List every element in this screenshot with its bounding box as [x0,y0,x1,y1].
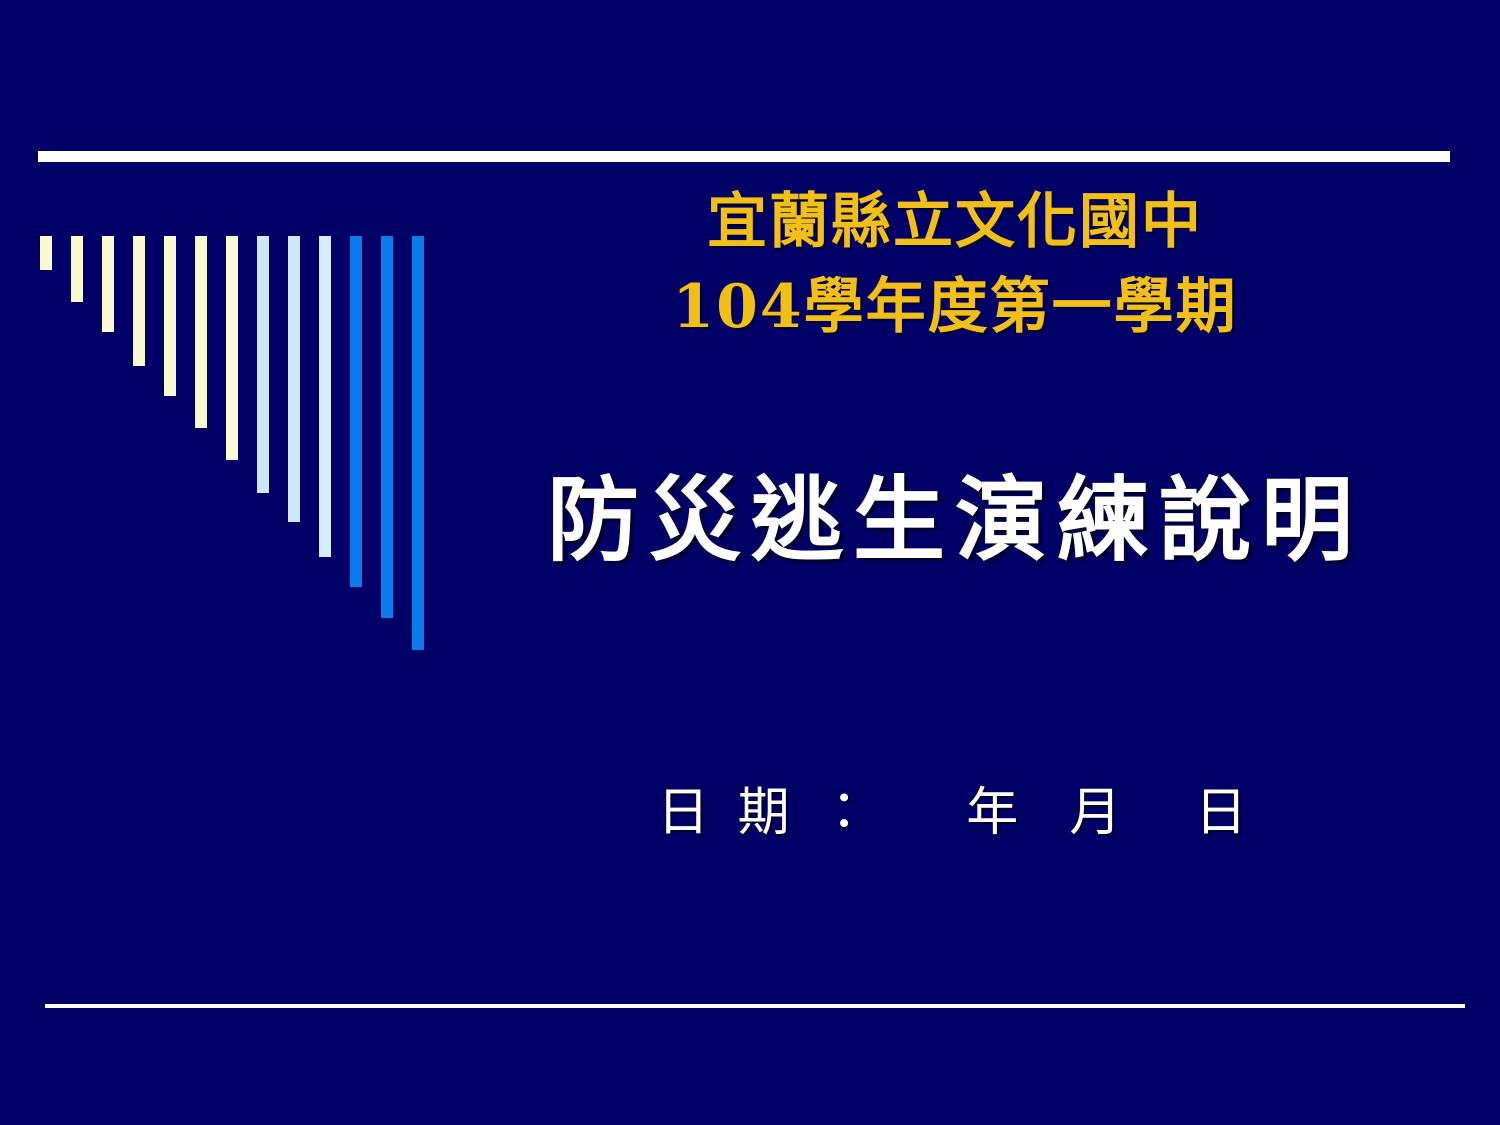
school-name-line: 宜蘭縣立文化國中 [440,180,1470,265]
decorative-bar-12 [381,236,393,618]
slide-text-column: 宜蘭縣立文化國中 104學年度第一學期 防災逃生演練說明 日 期 ： 年 月 日 [440,180,1470,845]
presentation-slide: 宜蘭縣立文化國中 104學年度第一學期 防災逃生演練說明 日 期 ： 年 月 日 [0,0,1500,1125]
decorative-bar-4 [133,236,145,366]
decorative-bar-13 [412,236,424,650]
top-divider-rule [38,151,1450,162]
decorative-bar-2 [71,236,83,302]
decorative-bar-6 [195,236,207,428]
bottom-divider-rule [45,1004,1465,1008]
decorative-bar-10 [319,236,331,557]
decorative-bar-9 [288,236,300,522]
descending-bar-graphic [0,0,470,700]
decorative-bar-1 [40,236,52,270]
decorative-bar-7 [226,236,238,460]
academic-term-line: 104學年度第一學期 [440,265,1470,350]
school-heading: 宜蘭縣立文化國中 104學年度第一學期 [440,180,1470,350]
decorative-bar-5 [164,236,176,396]
decorative-bar-8 [257,236,269,493]
decorative-bar-11 [350,236,362,587]
date-field-line: 日 期 ： 年 月 日 [440,574,1470,845]
page-title: 防災逃生演練說明 [440,350,1470,574]
decorative-bar-3 [102,236,114,332]
